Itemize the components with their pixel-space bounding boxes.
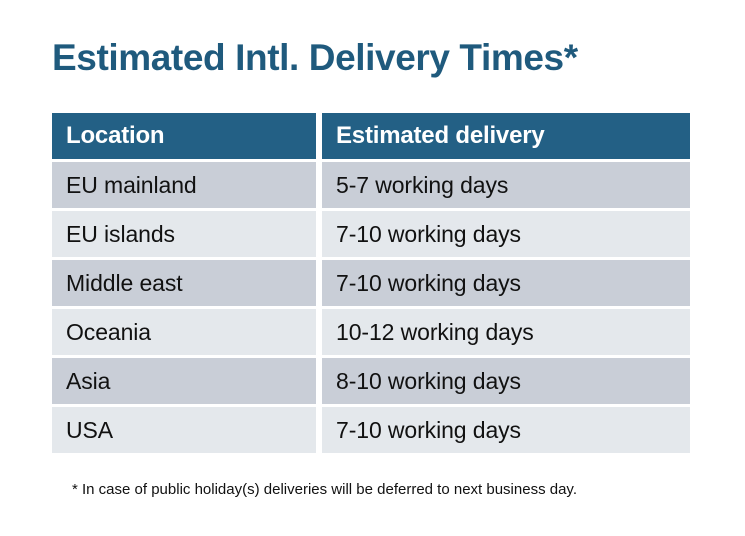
cell-estimated-delivery: 7-10 working days bbox=[322, 211, 690, 257]
column-header-location: Location bbox=[52, 113, 316, 159]
cell-estimated-delivery: 5-7 working days bbox=[322, 162, 690, 208]
table-header-row: Location Estimated delivery bbox=[52, 113, 690, 159]
footnote: * In case of public holiday(s) deliverie… bbox=[72, 480, 577, 500]
cell-location: EU islands bbox=[52, 211, 316, 257]
table-row: Middle east 7-10 working days bbox=[52, 260, 690, 306]
cell-location: Middle east bbox=[52, 260, 316, 306]
table-row: EU islands 7-10 working days bbox=[52, 211, 690, 257]
cell-estimated-delivery: 8-10 working days bbox=[322, 358, 690, 404]
cell-location: Asia bbox=[52, 358, 316, 404]
cell-estimated-delivery: 10-12 working days bbox=[322, 309, 690, 355]
table-row: EU mainland 5-7 working days bbox=[52, 162, 690, 208]
cell-estimated-delivery: 7-10 working days bbox=[322, 260, 690, 306]
cell-location: Oceania bbox=[52, 309, 316, 355]
table-row: Asia 8-10 working days bbox=[52, 358, 690, 404]
delivery-times-page: Estimated Intl. Delivery Times* Location… bbox=[0, 0, 745, 536]
table-row: Oceania 10-12 working days bbox=[52, 309, 690, 355]
page-title: Estimated Intl. Delivery Times* bbox=[52, 36, 578, 80]
cell-location: USA bbox=[52, 407, 316, 453]
table-row: USA 7-10 working days bbox=[52, 407, 690, 453]
delivery-times-table: Location Estimated delivery EU mainland … bbox=[52, 113, 690, 456]
column-header-estimated-delivery: Estimated delivery bbox=[322, 113, 690, 159]
cell-location: EU mainland bbox=[52, 162, 316, 208]
cell-estimated-delivery: 7-10 working days bbox=[322, 407, 690, 453]
